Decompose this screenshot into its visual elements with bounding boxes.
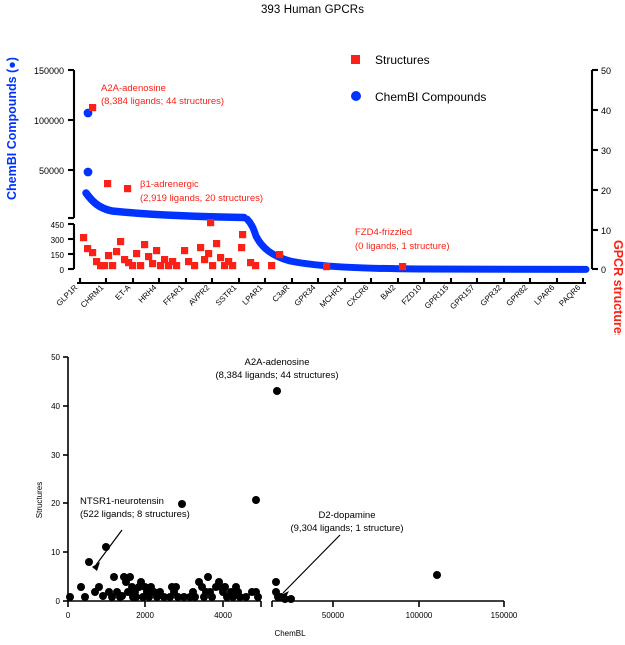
x-label-glp1r: GLP1R (54, 283, 79, 308)
legend-label-structures: Structures (375, 53, 430, 67)
scatter-point (287, 595, 295, 603)
scatter-point (77, 583, 85, 591)
right-tick-40: 40 (601, 106, 611, 116)
scatter-y-tick-50: 50 (51, 353, 60, 362)
leader-line-d2 (283, 535, 340, 593)
data-point-red (252, 262, 259, 269)
left-axis-lower: 450 300 150 0 (51, 221, 74, 275)
x-label-gpr157: GPR157 (448, 283, 476, 311)
scatter-point (433, 571, 441, 579)
annotation-b1-line2: (2,919 ligands, 20 structures) (140, 193, 263, 204)
data-point-red (137, 262, 144, 269)
left-tick-450: 450 (51, 221, 65, 230)
scatter-y-axis-title: Structures (35, 482, 44, 518)
data-point-red (141, 241, 148, 248)
scatter-point-a2a (273, 387, 281, 395)
data-point-red (173, 262, 180, 269)
data-point-red (229, 262, 236, 269)
data-point-red (129, 262, 136, 269)
scatter-x-axis-title: ChemBL (274, 629, 306, 638)
data-point-red (133, 250, 140, 257)
blue-circle-marker-icon (351, 91, 361, 101)
scatter-point-ntsr1 (178, 500, 186, 508)
data-point-red (153, 247, 160, 254)
data-point-red (105, 252, 112, 259)
annotation-d2-dopamine: D2-dopamine (9,304 ligands; 1 structure) (290, 510, 403, 534)
x-label-gpr115: GPR115 (423, 283, 451, 311)
x-label-c3ar: C3aR (271, 283, 292, 304)
scatter-x-tick-150000: 150000 (491, 611, 518, 620)
x-label-gpr82: GPR82 (504, 283, 529, 308)
scatter-points (66, 387, 441, 603)
ranked-gpcr-chart-panel: Structures ChemBI Compounds ChemBI Compo… (0, 0, 625, 335)
data-point-red (124, 185, 131, 192)
data-point-blue (84, 168, 93, 177)
annotation-fzd4-line2: (0 ligands, 1 structure) (355, 241, 450, 252)
data-point-red (213, 240, 220, 247)
scatter-point (66, 593, 74, 601)
figure-root: 393 Human GPCRs Structures ChemBI Compou… (0, 0, 625, 645)
scatter-annotation-d2-line1: D2-dopamine (318, 510, 375, 521)
leader-line-ntsr1 (96, 530, 122, 565)
x-label-paqr6: PAQR6 (557, 283, 583, 309)
scatter-annotation-d2-line2: (9,304 ligands; 1 structure) (290, 523, 403, 534)
scatter-point (110, 573, 118, 581)
data-point-red (104, 180, 111, 187)
x-label-lpar6: LPAR6 (533, 283, 557, 307)
scatter-annotation-a2a-line2: (8,384 ligands; 44 structures) (215, 370, 338, 381)
x-label-fzd10: FZD10 (400, 283, 424, 307)
data-point-red (323, 263, 330, 270)
data-point-red (238, 244, 245, 251)
ranked-gpcr-chart-svg: Structures ChemBI Compounds ChemBI Compo… (0, 0, 625, 335)
left-tick-100000: 100000 (34, 116, 64, 126)
annotation-fzd4-frizzled: FZD4-frizzled (0 ligands, 1 structure) (355, 227, 450, 252)
scatter-annotation-a2a-line1: A2A-adenosine (245, 357, 310, 368)
scatter-point (81, 593, 89, 601)
data-point-red (80, 234, 87, 241)
data-point-red (197, 244, 204, 251)
x-axis-top: GLP1R CHRM1 ET-A HRH4 FFAR1 AVPR2 SSTR1 … (54, 278, 586, 311)
data-point-red (89, 249, 96, 256)
data-point-red (209, 262, 216, 269)
data-point-red (207, 219, 214, 226)
right-tick-10: 10 (601, 226, 611, 236)
left-tick-50000: 50000 (39, 166, 64, 176)
right-tick-50: 50 (601, 66, 611, 76)
x-label-chrm1: CHRM1 (79, 283, 106, 310)
scatter-x-tick-100000: 100000 (406, 611, 433, 620)
scatter-y-axis: 50 40 30 20 10 0 Structures (35, 353, 68, 606)
scatter-y-tick-30: 30 (51, 451, 60, 460)
left-axis-title: ChemBI Compounds (●) (5, 57, 19, 200)
scatter-x-tick-4000: 4000 (214, 611, 232, 620)
annotation-a2a-adenosine: A2A-adenosine (8,384 ligands; 44 structu… (101, 83, 224, 107)
annotation-a2a-line1: A2A-adenosine (101, 83, 166, 94)
x-label-lpar1: LPAR1 (241, 283, 265, 307)
scatter-annotation-ntsr1-line1: NTSR1-neurotensin (80, 496, 164, 507)
left-tick-0: 0 (60, 266, 65, 275)
x-label-et-a: ET-A (113, 283, 132, 302)
x-label-avpr2: AVPR2 (187, 283, 212, 308)
data-point-red (109, 262, 116, 269)
left-tick-150000: 150000 (34, 66, 64, 76)
data-point-red (268, 262, 275, 269)
x-label-cxcr6: CXCR6 (345, 283, 371, 309)
right-axis-title: GPCR structures (■) (611, 240, 625, 335)
data-point-red (145, 253, 152, 260)
data-point-red (89, 104, 96, 111)
scatter-point (95, 583, 103, 591)
scatter-y-tick-20: 20 (51, 499, 60, 508)
scatter-point (272, 578, 280, 586)
data-point-red (217, 254, 224, 261)
data-point-red (117, 238, 124, 245)
right-tick-30: 30 (601, 146, 611, 156)
x-label-gpr32: GPR32 (478, 283, 503, 308)
right-tick-0: 0 (601, 265, 606, 275)
chembl-vs-structures-panel: 50 40 30 20 10 0 Structures 0 (0, 340, 625, 645)
scatter-point (132, 593, 140, 601)
x-label-hrh4: HRH4 (137, 283, 159, 305)
chart-legend: Structures ChemBI Compounds (351, 53, 486, 104)
scatter-y-tick-40: 40 (51, 402, 60, 411)
annotation-b1-adrenergic: β1-adrenergic (2,919 ligands, 20 structu… (140, 179, 263, 204)
right-tick-20: 20 (601, 186, 611, 196)
left-tick-300: 300 (51, 236, 65, 245)
x-label-gpr34: GPR34 (292, 283, 317, 308)
scatter-x-axis: 0 2000 4000 50000 100000 150000 ChemBL (66, 601, 518, 638)
x-label-sstr1: SSTR1 (214, 283, 239, 308)
x-axis-category-labels: GLP1R CHRM1 ET-A HRH4 FFAR1 AVPR2 SSTR1 … (54, 283, 582, 312)
scatter-point (191, 593, 199, 601)
scatter-point (85, 558, 93, 566)
annotation-b1-line1: β1-adrenergic (140, 179, 199, 190)
data-point-red (276, 251, 283, 258)
scatter-point (208, 593, 216, 601)
data-point-red (205, 250, 212, 257)
annotation-a2a-adenosine-scatter: A2A-adenosine (8,384 ligands; 44 structu… (215, 357, 338, 381)
legend-label-chembi: ChemBI Compounds (375, 90, 486, 104)
x-label-mchr1: MCHR1 (318, 283, 345, 310)
scatter-point (172, 583, 180, 591)
left-tick-150: 150 (51, 251, 65, 260)
annotation-a2a-line2: (8,384 ligands; 44 structures) (101, 96, 224, 107)
scatter-point (252, 496, 260, 504)
data-point-red (149, 260, 156, 267)
data-point-red (191, 262, 198, 269)
data-point-red (181, 247, 188, 254)
leader-arrow-ntsr1 (92, 562, 100, 571)
scatter-point (126, 573, 134, 581)
scatter-y-tick-0: 0 (56, 597, 61, 606)
scatter-x-tick-50000: 50000 (322, 611, 345, 620)
scatter-point (204, 573, 212, 581)
annotation-ntsr1-neurotensin: NTSR1-neurotensin (522 ligands; 8 struct… (80, 496, 190, 520)
chembl-vs-structures-svg: 50 40 30 20 10 0 Structures 0 (0, 340, 625, 645)
red-square-marker-icon (351, 55, 360, 64)
data-point-red (239, 231, 246, 238)
scatter-x-tick-0: 0 (66, 611, 71, 620)
scatter-y-tick-10: 10 (51, 548, 60, 557)
scatter-annotation-ntsr1-line2: (522 ligands; 8 structures) (80, 509, 190, 520)
data-point-red (101, 262, 108, 269)
x-label-ffar1: FFAR1 (161, 283, 185, 307)
x-label-bai2: BAI2 (379, 283, 398, 302)
annotation-fzd4-line1: FZD4-frizzled (355, 227, 412, 238)
scatter-point (254, 593, 262, 601)
scatter-x-tick-2000: 2000 (136, 611, 154, 620)
left-axis-upper: 150000 100000 50000 (34, 66, 74, 218)
data-point-red (113, 248, 120, 255)
data-point-red (399, 263, 406, 270)
right-axis: 50 40 30 20 10 0 (592, 66, 611, 275)
